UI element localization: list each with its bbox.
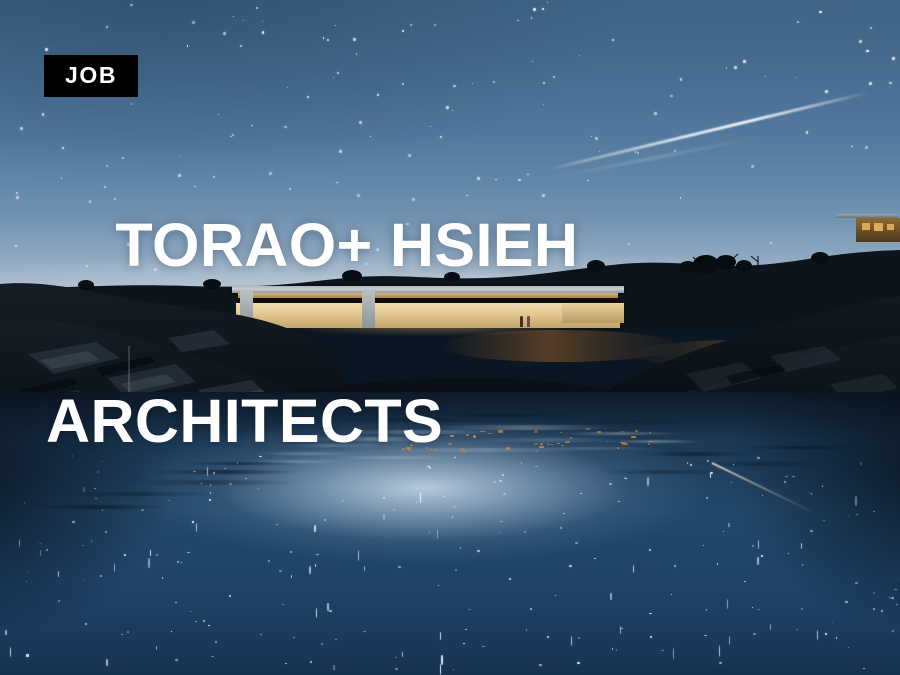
star-icon xyxy=(726,67,727,68)
title-line-2: ARCHITECTS xyxy=(46,377,578,465)
house-window xyxy=(862,223,870,230)
job-badge: JOB xyxy=(44,55,138,97)
job-hero-card: JOB TORAO+ HSIEH ARCHITECTS xyxy=(0,0,900,675)
water-sparkle xyxy=(673,648,674,660)
reflected-building-light xyxy=(617,447,619,449)
water-sparkle xyxy=(801,608,802,610)
water-sparkle xyxy=(717,563,718,565)
star-icon xyxy=(819,11,822,14)
star-icon xyxy=(42,113,45,116)
reflected-building-light xyxy=(622,443,628,445)
star-icon xyxy=(446,106,449,109)
star-icon xyxy=(680,78,683,81)
water-sparkle xyxy=(106,659,107,666)
job-badge-label: JOB xyxy=(65,64,117,87)
star-icon xyxy=(327,39,329,41)
star-icon xyxy=(806,131,808,133)
water-sparkle xyxy=(441,655,442,665)
star-icon xyxy=(751,165,754,168)
star-icon xyxy=(825,90,828,93)
water-sparkle xyxy=(402,652,403,657)
water-sparkle xyxy=(577,662,580,664)
star-icon xyxy=(243,20,244,21)
star-icon xyxy=(410,24,412,26)
water-sparkle xyxy=(620,626,621,634)
star-icon xyxy=(734,66,737,69)
page-title: TORAO+ HSIEH ARCHITECTS xyxy=(46,113,578,641)
water-sparkle xyxy=(440,664,441,675)
star-icon xyxy=(353,38,355,40)
star-icon xyxy=(16,196,19,199)
water-sparkle xyxy=(731,482,732,483)
water-sparkle xyxy=(175,659,178,661)
water-sparkle xyxy=(784,481,786,483)
water-sparkle xyxy=(855,496,856,506)
water-sparkle xyxy=(211,656,214,657)
star-icon xyxy=(20,127,22,129)
house-window xyxy=(887,224,894,230)
star-icon xyxy=(472,83,473,84)
star-icon xyxy=(869,82,872,85)
star-icon xyxy=(892,57,895,60)
water-sparkle xyxy=(758,540,759,549)
water-sparkle xyxy=(770,624,771,630)
star-icon xyxy=(453,85,455,87)
water-sparkle xyxy=(621,628,622,629)
star-icon xyxy=(402,30,404,32)
water-sparkle xyxy=(788,553,790,555)
water-sparkle xyxy=(823,520,825,521)
water-sparkle xyxy=(856,514,859,515)
water-ripple-dark xyxy=(640,452,750,456)
star-icon xyxy=(889,82,892,85)
water-sparkle xyxy=(785,476,788,477)
hillside-house xyxy=(836,214,900,250)
star-icon xyxy=(654,112,657,115)
star-icon xyxy=(434,24,436,26)
star-icon xyxy=(612,39,614,41)
water-sparkle xyxy=(310,661,312,663)
water-sparkle xyxy=(855,582,857,584)
water-ripple-dark xyxy=(740,446,860,449)
star-icon xyxy=(333,77,334,78)
water-sparkle xyxy=(761,555,763,557)
star-icon xyxy=(587,180,588,181)
water-sparkle xyxy=(707,460,709,462)
water-sparkle xyxy=(845,601,848,603)
star-icon xyxy=(865,146,868,149)
water-sparkle xyxy=(757,609,759,610)
water-sparkle xyxy=(215,641,217,642)
water-sparkle xyxy=(647,477,648,485)
water-sparkle xyxy=(744,581,747,582)
star-icon xyxy=(337,72,339,74)
title-line-1: TORAO+ HSIEH xyxy=(115,211,578,279)
star-icon xyxy=(517,20,518,21)
star-icon xyxy=(223,32,226,35)
star-icon xyxy=(670,95,672,97)
water-sparkle xyxy=(757,557,758,565)
reflected-building-light xyxy=(635,430,638,432)
water-sparkle xyxy=(650,636,651,638)
star-icon xyxy=(130,4,132,6)
water-sparkle xyxy=(24,502,26,504)
star-icon xyxy=(262,31,265,34)
water-sparkle xyxy=(863,668,865,669)
water-sparkle xyxy=(796,629,798,630)
star-icon xyxy=(743,60,746,63)
reflected-building-light xyxy=(648,443,650,446)
water-sparkle xyxy=(539,664,542,666)
water-sparkle xyxy=(896,604,898,605)
water-sparkle xyxy=(321,643,323,645)
water-sparkle xyxy=(753,633,756,635)
water-sparkle xyxy=(873,592,876,593)
water-sparkle xyxy=(19,539,20,548)
water-sparkle xyxy=(728,523,729,527)
water-sparkle xyxy=(610,593,611,600)
water-sparkle xyxy=(395,668,397,670)
house-window xyxy=(874,223,883,231)
water-sparkle xyxy=(801,543,802,549)
star-icon xyxy=(192,21,195,24)
star-icon xyxy=(859,40,862,43)
water-sparkle xyxy=(706,497,708,499)
star-icon xyxy=(240,45,242,47)
water-sparkle xyxy=(156,646,157,650)
star-icon xyxy=(680,197,681,198)
water-sparkle xyxy=(825,633,827,635)
star-icon xyxy=(45,48,48,51)
reflected-building-light xyxy=(648,441,653,442)
water-ripple-dark xyxy=(560,420,710,424)
star-icon xyxy=(16,192,18,194)
water-sparkle xyxy=(757,457,760,459)
water-sparkle xyxy=(5,630,6,635)
star-icon xyxy=(106,26,108,28)
water-sparkle xyxy=(609,483,612,485)
